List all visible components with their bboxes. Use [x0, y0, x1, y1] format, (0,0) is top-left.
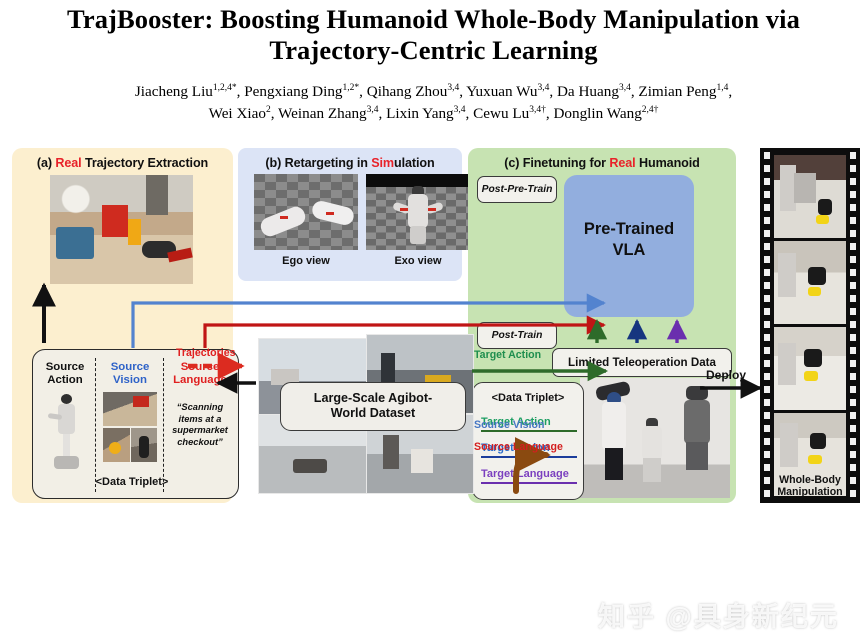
target-language-label: Target Language	[481, 468, 577, 484]
sim-robot-left-arm	[258, 204, 308, 239]
panel-a-real-trajectory-extraction: (a) Real Trajectory Extraction SourceAct…	[12, 148, 233, 503]
source-language-label: SourceLanguage	[163, 361, 237, 388]
limited-teleoperation-data-box: Limited Teleoperation Data	[552, 348, 732, 377]
film-sprocket-hole	[850, 360, 856, 367]
film-sprocket-hole	[850, 490, 856, 497]
robot-body	[794, 173, 816, 203]
film-sprocket-hole	[764, 490, 770, 497]
film-sprocket-hole	[850, 321, 856, 328]
source-vision-thumb-2	[103, 428, 130, 462]
film-sprocket-hole	[764, 477, 770, 484]
film-sprocket-hole	[850, 373, 856, 380]
film-sprocket-hole	[850, 295, 856, 302]
sim-marker-right	[326, 212, 334, 215]
film-sprocket-hole	[764, 178, 770, 185]
sim-marker-left	[280, 216, 288, 219]
humanoid-robot-legs	[643, 458, 661, 482]
film-sprocket-hole	[764, 204, 770, 211]
film-sprocket-hole	[764, 425, 770, 432]
film-sprocket-hole	[764, 165, 770, 172]
film-sprocket-hole	[850, 256, 856, 263]
film-sprocket-hole	[764, 243, 770, 250]
thumb-object	[383, 435, 399, 469]
film-sprocket-hole	[850, 386, 856, 393]
film-sprocket-hole	[850, 347, 856, 354]
film-sprocket-hole	[764, 191, 770, 198]
thumb-object	[109, 442, 121, 454]
film-sprocket-hole	[850, 152, 856, 159]
film-sprocket-hole	[850, 464, 856, 471]
tag-post-train: Post-Train	[477, 322, 557, 349]
panel-a-title: (a) Real Trajectory Extraction	[12, 156, 233, 170]
sim-robot-torso	[408, 194, 428, 228]
thumb-object	[381, 353, 395, 383]
film-sprocket-hole	[850, 165, 856, 172]
agibot-dataset-label: Large-Scale Agibot-World Dataset	[280, 382, 466, 431]
film-sprocket-hole	[850, 191, 856, 198]
film-sprocket-hole	[850, 451, 856, 458]
film-sprocket-hole	[764, 464, 770, 471]
source-triplet-caption: <Data Triplet>	[67, 476, 197, 488]
film-sprocket-hole	[850, 243, 856, 250]
filmstrip-frame-3	[774, 327, 846, 410]
ego-view-caption: Ego view	[254, 255, 358, 267]
operator-1-legs	[605, 448, 623, 480]
operator-1-body	[602, 402, 626, 450]
source-vision-thumb-1	[103, 392, 157, 426]
photo-object-blue-box	[56, 227, 94, 259]
source-data-triplet-box: SourceAction SourceVision SourceLanguage…	[32, 349, 239, 499]
source-action-robot-illustration	[50, 394, 84, 472]
triplet-divider-1	[95, 358, 96, 492]
film-sprocket-hole	[764, 282, 770, 289]
sim-robot-legs	[410, 226, 426, 244]
film-sprocket-hole	[850, 412, 856, 419]
filmstrip-caption: Whole-BodyManipulation	[768, 474, 852, 498]
source-action-label: SourceAction	[35, 361, 95, 388]
pre-trained-vla-box: Pre-TrainedVLA	[564, 175, 694, 317]
robot-arm	[778, 343, 796, 385]
teleoperation-photo	[580, 378, 730, 498]
watermark: 知乎 @具身新纪元	[598, 595, 867, 634]
target-triplet-caption: <Data Triplet>	[473, 392, 583, 404]
film-sprocket-hole	[764, 347, 770, 354]
film-sprocket-hole	[764, 412, 770, 419]
source-vision-arrow-label: Source Vision	[474, 419, 544, 431]
figure-diagram: (a) Real Trajectory Extraction SourceAct…	[0, 143, 867, 507]
film-sprocket-hole	[850, 217, 856, 224]
film-sprocket-hole	[764, 152, 770, 159]
film-sprocket-hole	[850, 438, 856, 445]
deployment-filmstrip: Whole-BodyManipulation	[760, 148, 860, 503]
photo-object-yellow-item	[128, 219, 141, 245]
film-sprocket-hole	[764, 321, 770, 328]
film-sprocket-hole	[764, 295, 770, 302]
toy-object	[808, 267, 826, 285]
toy-object	[810, 433, 826, 449]
filmstrip-frame-2	[774, 241, 846, 324]
humanoid-robot-torso	[642, 426, 662, 460]
film-sprocket-hole	[850, 399, 856, 406]
sim-marker-right	[428, 208, 436, 211]
panel-b-retargeting-in-simulation: (b) Retargeting in Simulation Ego view E…	[238, 148, 462, 281]
author-list: Jiacheng Liu1,2,4*, Pengxiang Ding1,2*, …	[0, 81, 867, 125]
operator-2-head	[686, 386, 708, 400]
yellow-object	[816, 215, 829, 224]
sim-exo-view-image	[366, 174, 470, 250]
operator-2-body	[684, 400, 710, 444]
photo-object-shelf	[146, 175, 168, 215]
film-sprocket-hole	[764, 373, 770, 380]
source-vision-thumb-3	[131, 428, 157, 462]
source-language-quote: “Scanning items at a supermarket checkou…	[165, 402, 235, 448]
film-sprocket-hole	[850, 269, 856, 276]
thumb-object	[411, 449, 433, 473]
film-sprocket-hole	[850, 178, 856, 185]
robot-arm	[780, 423, 798, 467]
film-sprocket-hole	[764, 399, 770, 406]
film-sprocket-hole	[764, 334, 770, 341]
robot-base	[54, 456, 79, 469]
target-action-arrow-label: Target Action	[474, 349, 541, 361]
robot-arm	[48, 413, 63, 420]
robot-arm	[778, 253, 796, 297]
trajectories-arrow-label: Trajectories	[176, 347, 235, 359]
source-vision-label: SourceVision	[97, 361, 163, 388]
yellow-object	[808, 287, 821, 296]
film-sprocket-hole	[850, 230, 856, 237]
exo-view-caption: Exo view	[366, 255, 470, 267]
film-sprocket-hole	[764, 269, 770, 276]
film-sprocket-hole	[764, 386, 770, 393]
title-block: TrajBooster: Boosting Humanoid Whole-Bod…	[0, 4, 867, 125]
agibot-world-dataset-stack: Large-Scale Agibot-World Dataset	[258, 334, 472, 494]
thumb-object	[139, 436, 149, 458]
panel-c-title: (c) Finetuning for Real Humanoid	[468, 156, 736, 170]
film-sprocket-hole	[850, 204, 856, 211]
photo-object-red-box	[102, 205, 128, 237]
film-sprocket-hole	[764, 451, 770, 458]
robot-column	[63, 434, 70, 458]
sim-ego-view-image	[254, 174, 358, 250]
filmstrip-frame-1	[774, 155, 846, 238]
author-line-1: Jiacheng Liu1,2,4*, Pengxiang Ding1,2*, …	[28, 81, 839, 103]
yellow-object	[808, 455, 822, 464]
film-sprocket-hole	[850, 477, 856, 484]
yellow-object	[804, 371, 818, 381]
real-scene-photo	[50, 175, 193, 284]
tag-post-pre-train: Post-Pre-Train	[477, 176, 557, 203]
thumb-object	[293, 459, 327, 473]
film-sprocket-hole	[764, 230, 770, 237]
film-sprocket-hole	[764, 217, 770, 224]
film-sprocket-hole	[764, 256, 770, 263]
film-sprocket-hole	[850, 282, 856, 289]
thumb-object	[133, 396, 149, 407]
film-sprocket-hole	[764, 438, 770, 445]
film-sprocket-hole	[850, 334, 856, 341]
sim-marker-left	[400, 208, 408, 211]
source-language-arrow-label: Source Language	[474, 441, 563, 453]
page-title: TrajBooster: Boosting Humanoid Whole-Bod…	[0, 4, 867, 67]
toy-object	[818, 199, 832, 215]
robot-head	[61, 394, 72, 404]
panel-b-title: (b) Retargeting in Simulation	[238, 156, 462, 170]
film-sprocket-hole	[850, 425, 856, 432]
film-sprocket-hole	[850, 308, 856, 315]
deploy-arrow-label: Deploy	[706, 368, 746, 382]
operator-2-legs	[686, 442, 708, 470]
author-line-2: Wei Xiao2, Weinan Zhang3,4, Lixin Yang3,…	[28, 103, 839, 125]
pre-trained-vla-label: Pre-TrainedVLA	[564, 219, 694, 260]
film-sprocket-hole	[764, 308, 770, 315]
toy-object	[804, 349, 822, 367]
film-sprocket-hole	[764, 360, 770, 367]
